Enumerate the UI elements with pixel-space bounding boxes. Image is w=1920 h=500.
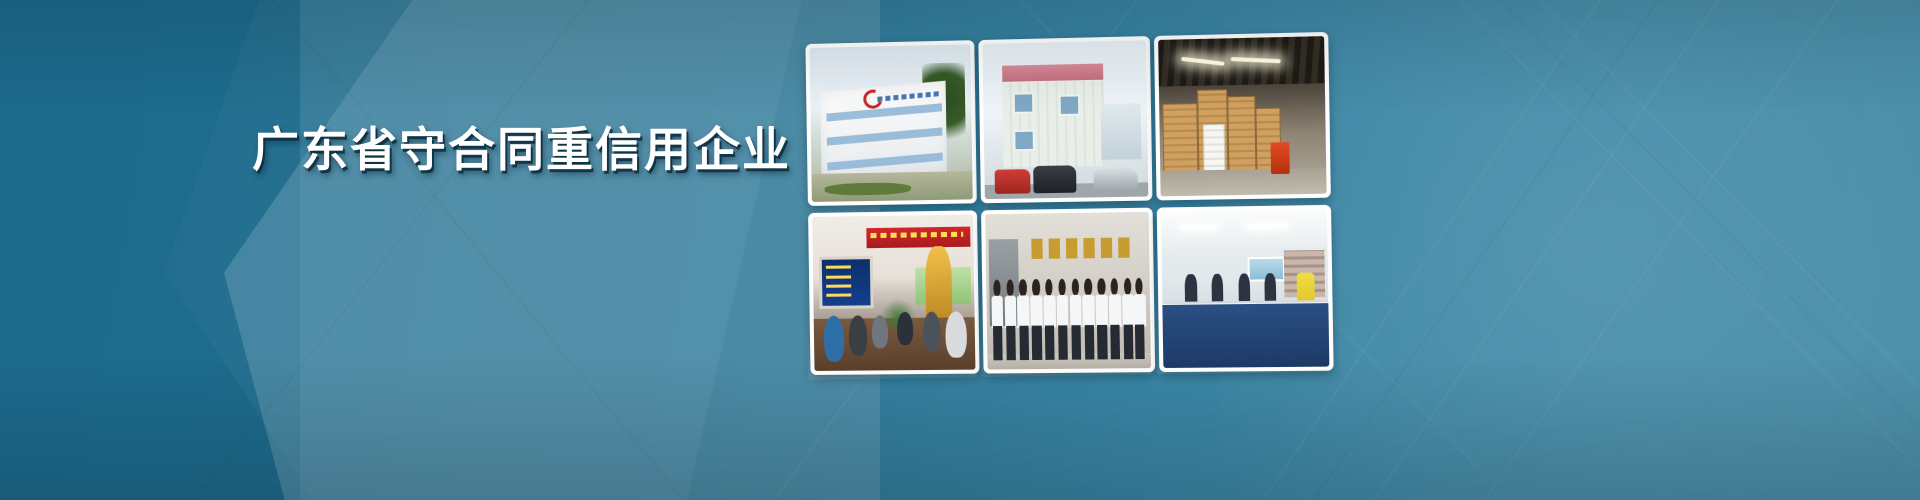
person-shape bbox=[1095, 278, 1108, 359]
person-shape bbox=[1069, 278, 1082, 359]
sack-stack bbox=[1227, 95, 1257, 173]
ceiling-light bbox=[1247, 224, 1287, 229]
photo-caption: 原料仓库 bbox=[1161, 196, 1162, 197]
person-shape bbox=[1043, 279, 1056, 360]
photo-image bbox=[982, 40, 1148, 199]
person-shape bbox=[1238, 273, 1250, 305]
person-shape bbox=[991, 279, 1004, 360]
person-shape bbox=[849, 315, 867, 355]
promo-banner: 广东省守合同重信用企业 厂房外景 bbox=[0, 0, 1920, 500]
red-car-shape bbox=[994, 169, 1030, 194]
floor-shape bbox=[1160, 168, 1326, 196]
person-shape bbox=[1185, 274, 1197, 305]
display-screen bbox=[819, 256, 874, 309]
desk-row bbox=[1162, 304, 1329, 368]
wall-signage-text bbox=[1031, 237, 1129, 259]
white-sack-stack bbox=[1202, 124, 1225, 173]
photo-wall-text: 邦凯工程塑料 bbox=[988, 369, 989, 370]
person-shape bbox=[1056, 278, 1069, 359]
person-shape bbox=[1030, 279, 1043, 360]
roof-band bbox=[1002, 63, 1103, 82]
window-shape bbox=[1058, 95, 1080, 117]
photo-grid: 厂房外景 车间厂区 bbox=[805, 32, 1333, 376]
sack-stack bbox=[1162, 103, 1198, 175]
black-van-shape bbox=[1033, 165, 1076, 194]
photo-image bbox=[812, 214, 975, 371]
banner-headline: 广东省守合同重信用企业 bbox=[252, 126, 791, 175]
photo-meeting-room[interactable]: 会议培训 bbox=[808, 210, 979, 375]
person-shape bbox=[1265, 273, 1277, 305]
person-shape bbox=[1017, 279, 1030, 360]
photo-office-area[interactable]: 办公区域 bbox=[1157, 205, 1334, 372]
photo-factory-exterior[interactable]: 厂房外景 bbox=[805, 40, 976, 206]
photo-workshop-building[interactable]: 车间厂区 bbox=[978, 36, 1152, 203]
photo-caption: 会议培训 bbox=[815, 371, 816, 372]
person-shape bbox=[1133, 277, 1146, 358]
person-shape bbox=[871, 315, 888, 349]
photo-caption: 厂房外景 bbox=[812, 202, 813, 203]
photo-image bbox=[1161, 209, 1330, 368]
photo-staff-group[interactable]: 邦凯工程塑料 团队合影 bbox=[981, 208, 1155, 374]
white-car-shape bbox=[1094, 169, 1139, 193]
photo-caption: 办公区域 bbox=[1163, 368, 1164, 369]
person-shape bbox=[1211, 273, 1223, 305]
person-shape bbox=[1109, 278, 1122, 359]
photo-caption: 车间厂区 bbox=[985, 199, 986, 200]
forklift-shape bbox=[1271, 142, 1290, 174]
window-shape bbox=[1013, 130, 1035, 152]
photo-image bbox=[1158, 36, 1326, 196]
person-shape bbox=[1082, 278, 1095, 359]
window-shape bbox=[1012, 93, 1034, 115]
person-shape bbox=[1004, 279, 1017, 360]
photo-warehouse[interactable]: 原料仓库 bbox=[1154, 32, 1331, 201]
photo-image bbox=[985, 212, 1151, 370]
side-building-shape bbox=[1101, 103, 1141, 160]
ceiling-light bbox=[1181, 225, 1217, 230]
photo-image bbox=[809, 44, 972, 202]
photo-caption: 团队合影 bbox=[988, 369, 989, 370]
